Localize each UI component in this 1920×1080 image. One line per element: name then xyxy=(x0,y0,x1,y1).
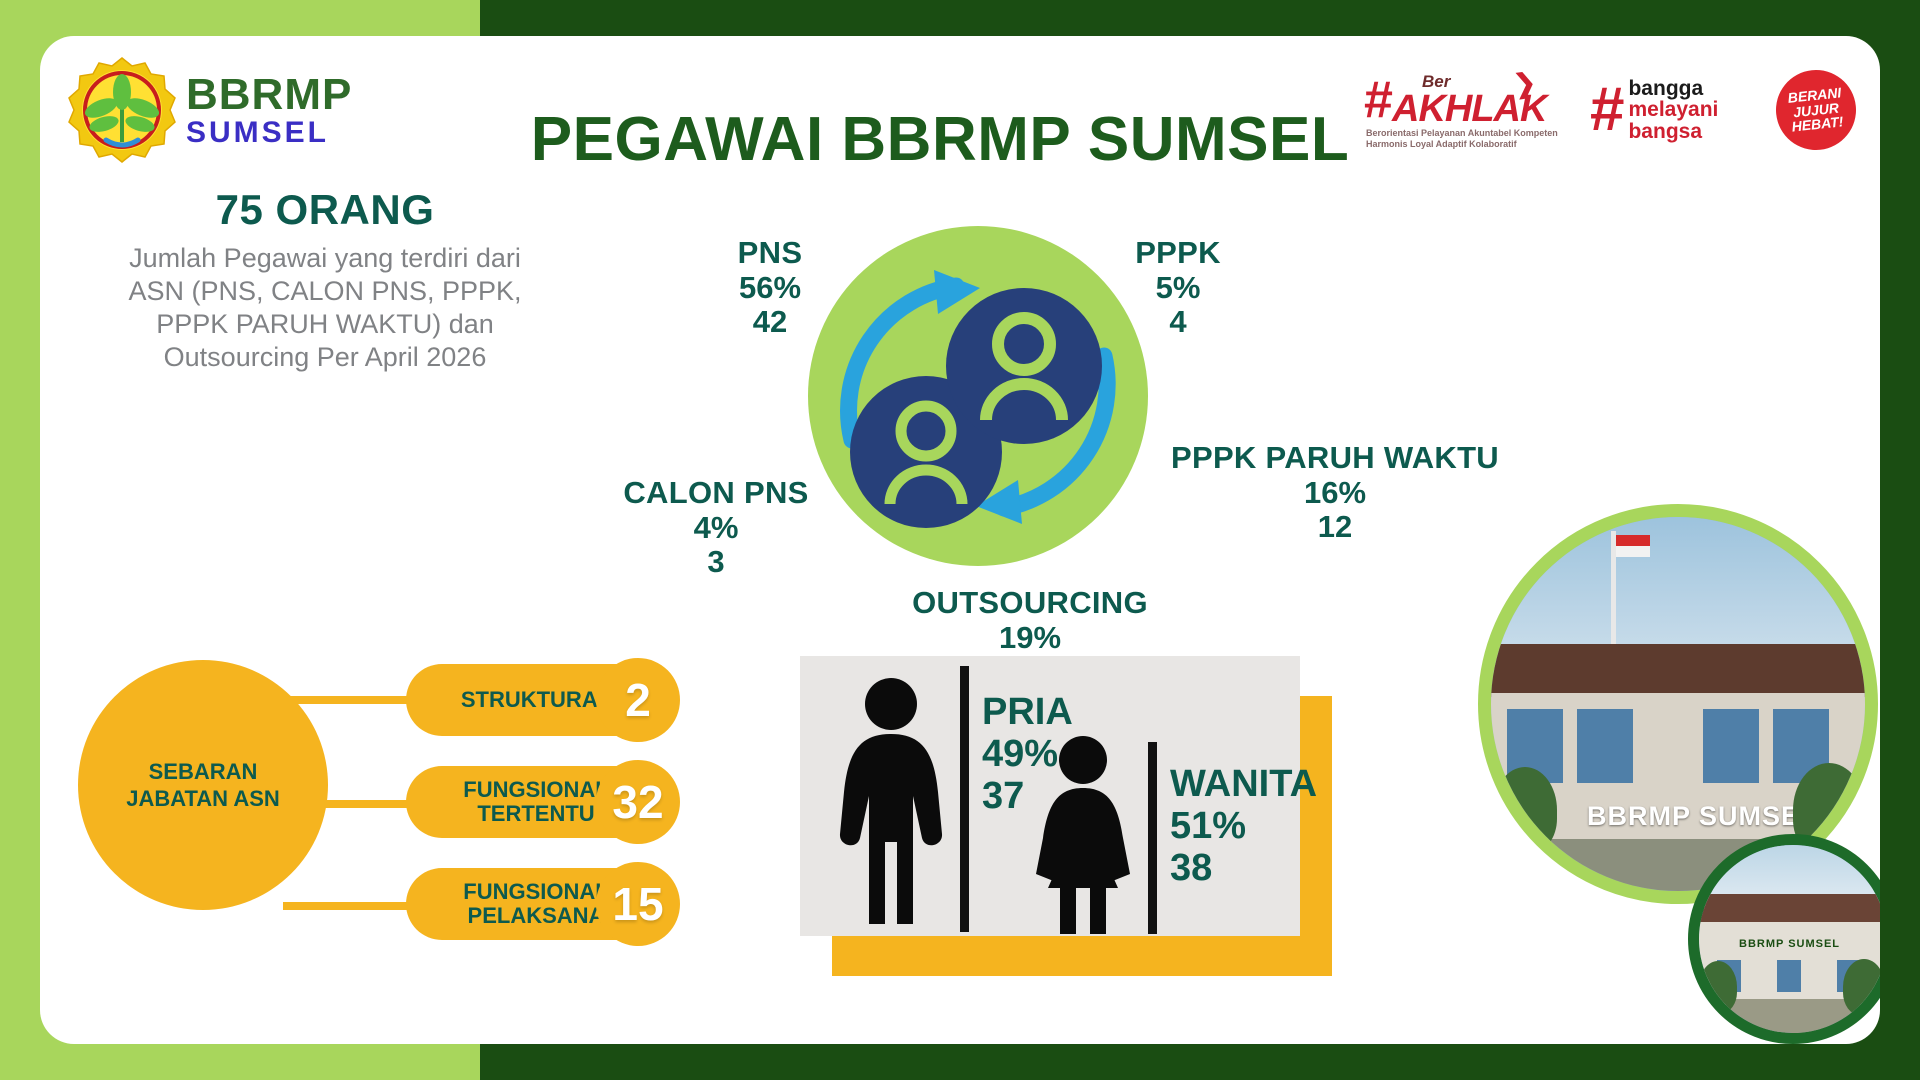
stat-pns-count: 42 xyxy=(660,305,880,340)
brand-wordmark: BBRMP SUMSEL xyxy=(186,74,352,149)
akhlak-logo: # Ber AKHLAK ❯ Berorientasi Pelayanan Ak… xyxy=(1364,68,1564,152)
job-value-badge: 2 xyxy=(596,658,680,742)
gender-divider-bar xyxy=(1148,742,1157,934)
brand-name-short: BBRMP xyxy=(186,74,352,116)
building-photo-secondary: BBRMP SUMSEL xyxy=(1688,834,1880,1044)
job-connector-line xyxy=(283,800,413,808)
akhlak-tagline-line2: Harmonis Loyal Adaptif Kolaboratif xyxy=(1366,139,1566,150)
akhlak-tagline-line1: Berorientasi Pelayanan Akuntabel Kompete… xyxy=(1366,128,1566,139)
page-title: PEGAWAI BBRMP SUMSEL xyxy=(440,104,1440,175)
brand-name-region: SUMSEL xyxy=(186,116,352,149)
gender-female-label: WANITA xyxy=(1170,764,1317,806)
gender-male-percent: 49% xyxy=(982,734,1073,776)
photo-window xyxy=(1777,960,1801,992)
stat-outsourcing-label: OUTSOURCING xyxy=(870,586,1190,621)
hash-icon: # xyxy=(1364,74,1393,126)
stat-pppk-paruh-percent: 16% xyxy=(1110,476,1560,511)
stat-calon-pns-percent: 4% xyxy=(576,511,856,546)
gender-stat-female: WANITA 51% 38 xyxy=(1170,764,1317,889)
job-row: STRUKTURAL 2 xyxy=(406,664,736,736)
bangga-line3: bangsa xyxy=(1628,121,1718,142)
summary-block: 75 ORANG Jumlah Pegawai yang terdiri dar… xyxy=(110,186,540,374)
stat-calon-pns-label: CALON PNS xyxy=(576,476,856,511)
infographic-canvas: BBRMP SUMSEL PEGAWAI BBRMP SUMSEL # Ber … xyxy=(40,36,1880,1044)
photo-tree xyxy=(1843,959,1880,1015)
male-figure-icon xyxy=(836,674,946,924)
photo-flag xyxy=(1616,535,1650,557)
stat-pns-label: PNS xyxy=(660,236,880,271)
photo-building-sign: BBRMP SUMSEL xyxy=(1739,938,1840,950)
job-row: FUNGSIONAL TERTENTU 32 xyxy=(406,766,736,838)
akhlak-tagline: Berorientasi Pelayanan Akuntabel Kompete… xyxy=(1366,128,1566,151)
gender-male-count: 37 xyxy=(982,776,1073,818)
photo-tree xyxy=(1493,767,1557,853)
bangga-line1: bangga xyxy=(1628,78,1718,99)
brand-logo-block: BBRMP SUMSEL xyxy=(68,50,398,170)
stat-pppk-count: 4 xyxy=(1068,305,1288,340)
photo-window xyxy=(1577,709,1633,783)
padi-logo-icon xyxy=(68,56,176,164)
job-distribution-block: SEBARAN JABATAN ASN STRUKTURAL 2 FUNGSIO… xyxy=(78,644,778,974)
bangga-melayani-bangsa-logo: # bangga melayani bangsa xyxy=(1590,69,1750,151)
gender-composition-block: PRIA 49% 37 WANITA 51% 38 xyxy=(800,656,1340,976)
job-label-line2: TERTENTU xyxy=(463,802,608,826)
gender-female-count: 38 xyxy=(1170,848,1317,890)
gender-stat-male: PRIA 49% 37 xyxy=(982,692,1073,817)
photo-roof xyxy=(1491,644,1865,696)
gender-divider-bar xyxy=(960,666,969,932)
job-hub-line2: JABATAN ASN xyxy=(126,785,280,813)
bangga-lines: bangga melayani bangsa xyxy=(1628,78,1718,142)
job-label-line1: STRUKTURAL xyxy=(461,688,611,712)
job-label-line1: FUNGSIONAL xyxy=(463,880,608,904)
bangga-line2: melayani xyxy=(1628,99,1718,120)
stat-pns: PNS 56% 42 xyxy=(660,236,880,340)
stat-outsourcing-percent: 19% xyxy=(870,621,1190,656)
photo-tree xyxy=(1699,961,1737,1013)
photo-window xyxy=(1703,709,1759,783)
job-label-line2: PELAKSANA xyxy=(463,904,608,928)
chevron-right-icon: ❯ xyxy=(1512,67,1538,101)
total-employee-count: 75 ORANG xyxy=(110,186,540,234)
job-label-line1: FUNGSIONAL xyxy=(463,778,608,802)
summary-description: Jumlah Pegawai yang terdiri dari ASN (PN… xyxy=(110,242,540,374)
hash-icon: # xyxy=(1590,79,1624,141)
stat-calon-pns: CALON PNS 4% 3 xyxy=(576,476,856,580)
job-row: FUNGSIONAL PELAKSANA 15 xyxy=(406,868,736,940)
stat-pppk: PPPK 5% 4 xyxy=(1068,236,1288,340)
job-connector-line xyxy=(283,696,413,704)
gender-male-label: PRIA xyxy=(982,692,1073,734)
photo-building-sign: BBRMP SUMSEL xyxy=(1587,801,1818,832)
job-hub-line1: SEBARAN xyxy=(126,758,280,786)
stat-pns-percent: 56% xyxy=(660,271,880,306)
berani-jujur-hebat-badge: BERANI JUJUR HEBAT! xyxy=(1772,66,1860,154)
gender-female-percent: 51% xyxy=(1170,806,1317,848)
job-connector-line xyxy=(283,902,413,910)
stat-calon-pns-count: 3 xyxy=(576,545,856,580)
job-value-badge: 15 xyxy=(596,862,680,946)
photo-roof xyxy=(1699,894,1880,924)
partner-logo-cluster: # Ber AKHLAK ❯ Berorientasi Pelayanan Ak… xyxy=(1364,56,1856,164)
job-value-badge: 32 xyxy=(596,760,680,844)
stat-pppk-label: PPPK xyxy=(1068,236,1288,271)
berani-line3: HEBAT! xyxy=(1791,115,1844,135)
stat-pppk-percent: 5% xyxy=(1068,271,1288,306)
stat-pppk-paruh-label: PPPK PARUH WAKTU xyxy=(1110,441,1560,476)
gender-grey-panel: PRIA 49% 37 WANITA 51% 38 xyxy=(800,656,1300,936)
